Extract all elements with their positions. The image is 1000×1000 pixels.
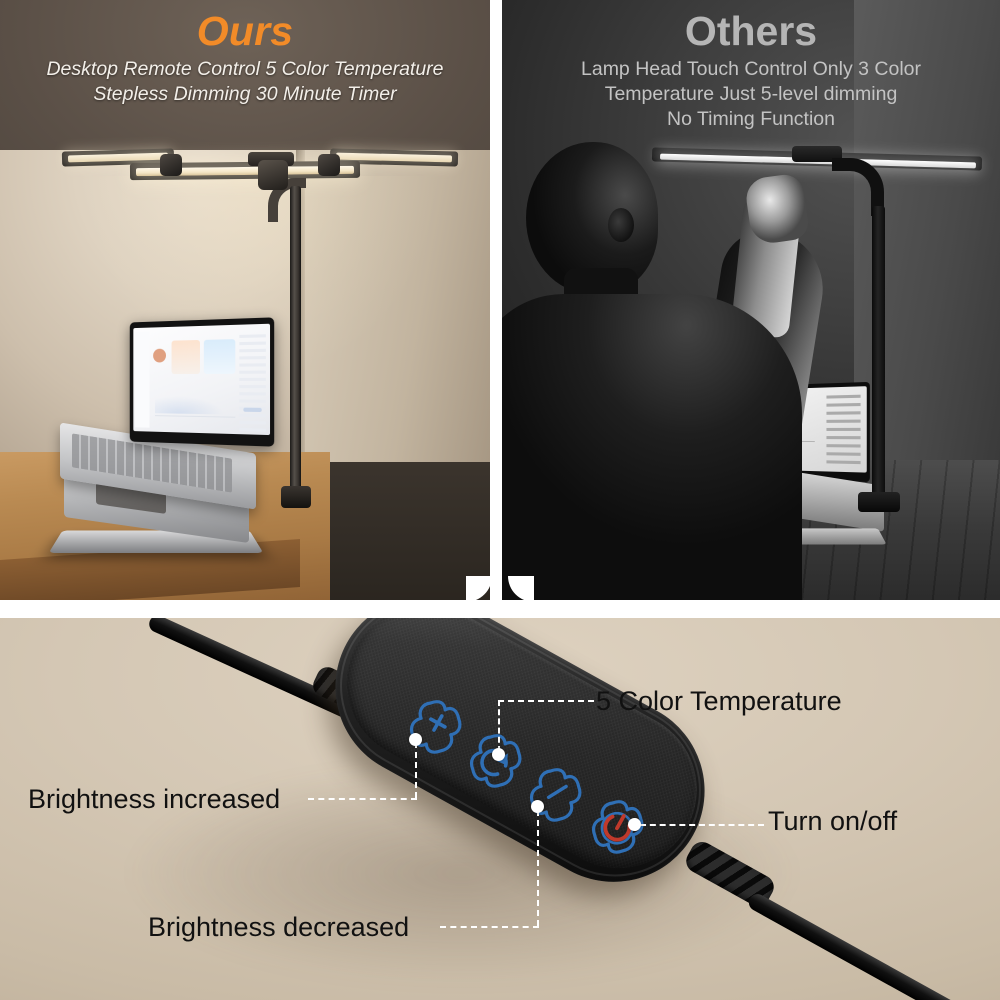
ui-right-column	[239, 334, 266, 435]
ours-title: Ours	[0, 10, 490, 53]
callout-dot-brightness-up	[409, 733, 422, 746]
ours-subtitle: Desktop Remote Control 5 Color Temperatu…	[0, 57, 490, 107]
product-comparison-infographic: Ours Desktop Remote Control 5 Color Temp…	[0, 0, 1000, 1000]
ui-pill	[243, 408, 261, 412]
others-title: Others	[502, 10, 1000, 53]
callout-label-power: Turn on/off	[768, 806, 897, 837]
others-subtitle-line-3: No Timing Function	[502, 107, 1000, 132]
ours-subtitle-line-2: Stepless Dimming 30 Minute Timer	[0, 82, 490, 107]
ui-chart	[155, 387, 235, 418]
lamp-hinge-left	[160, 154, 182, 176]
lamp-hinge-right	[318, 154, 340, 176]
callout-dot-color-temperature	[492, 748, 505, 761]
laptop-screen	[130, 317, 274, 446]
callout-dot-power	[628, 818, 641, 831]
ours-wall-side	[300, 150, 490, 462]
callout-leader-color-temperature-horizontal	[498, 700, 594, 702]
ours-heading-block: Ours Desktop Remote Control 5 Color Temp…	[0, 10, 490, 107]
callout-leader-color-temperature-vertical	[498, 700, 500, 752]
panel-ours: Ours Desktop Remote Control 5 Color Temp…	[0, 0, 490, 608]
callout-label-brightness-up: Brightness increased	[28, 784, 280, 815]
callout-label-brightness-down: Brightness decreased	[148, 912, 409, 943]
person-ear	[608, 208, 634, 242]
callout-label-color-temperature: 5 Color Temperature	[596, 686, 842, 717]
others-heading-block: Others Lamp Head Touch Control Only 3 Co…	[502, 10, 1000, 132]
panel-others: Others Lamp Head Touch Control Only 3 Co…	[502, 0, 1000, 608]
others-subtitle: Lamp Head Touch Control Only 3 Color Tem…	[502, 57, 1000, 132]
lamp-joint	[258, 160, 288, 190]
others-ui-lines	[826, 395, 860, 468]
comparison-row: Ours Desktop Remote Control 5 Color Temp…	[0, 0, 1000, 608]
callout-leader-power	[640, 824, 764, 826]
lamp-pole	[290, 186, 301, 504]
person-torso	[502, 294, 802, 608]
callout-dot-brightness-down	[531, 800, 544, 813]
laptop-display-ui	[133, 324, 270, 435]
lamp-pole-base	[281, 486, 311, 508]
others-subtitle-line-1: Lamp Head Touch Control Only 3 Color	[502, 57, 1000, 82]
callout-leader-brightness-down-horizontal	[440, 926, 539, 928]
callout-leader-brightness-down-vertical	[537, 810, 539, 926]
ui-card-left	[172, 340, 200, 374]
panel-divider-horizontal	[0, 600, 1000, 618]
ui-sidebar	[135, 331, 149, 427]
others-lamp-pole	[872, 206, 885, 506]
ours-subtitle-line-1: Desktop Remote Control 5 Color Temperatu…	[0, 57, 490, 82]
ui-avatar	[153, 349, 166, 363]
others-subtitle-line-2: Temperature Just 5-level dimming	[502, 82, 1000, 107]
callout-leader-brightness-up-vertical	[415, 742, 417, 798]
ui-card-right	[204, 339, 235, 374]
others-lamp-base	[858, 492, 900, 512]
panel-divider-vertical	[490, 0, 502, 608]
callout-leader-brightness-up-horizontal	[308, 798, 417, 800]
